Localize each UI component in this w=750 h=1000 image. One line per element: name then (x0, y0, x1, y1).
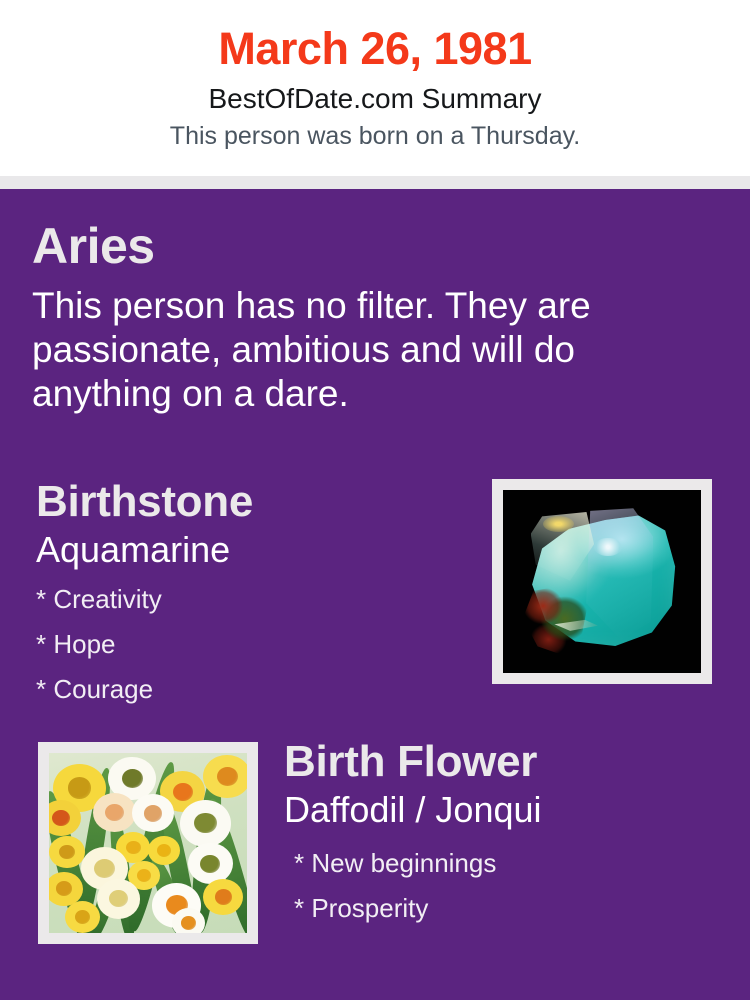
page-title-date: March 26, 1981 (0, 0, 750, 74)
daffodil-corona-icon (105, 804, 124, 821)
daffodil-corona-icon (200, 855, 220, 873)
daffodil-corona-icon (52, 810, 69, 826)
daffodil-corona-icon (56, 881, 73, 896)
summary-card: March 26, 1981 BestOfDate.com Summary Th… (0, 0, 750, 1000)
list-item: * Creativity (36, 577, 476, 622)
list-item: * Hope (36, 622, 476, 667)
daffodil-icon (180, 800, 231, 847)
zodiac-sign-name: Aries (32, 218, 672, 274)
daffodil-icon (97, 879, 141, 919)
header: March 26, 1981 BestOfDate.com Summary Th… (0, 0, 750, 176)
birthstone-heading: Birthstone (36, 477, 476, 527)
daffodil-corona-icon (194, 813, 217, 834)
daffodil-icon (203, 879, 243, 915)
birthstone-section: Birthstone Aquamarine * Creativity * Hop… (36, 477, 476, 712)
daffodil-icon (203, 755, 247, 798)
birthstone-trait-list: * Creativity * Hope * Courage (36, 571, 476, 712)
daffodil-icon (49, 836, 85, 868)
birth-flower-image-frame (38, 742, 258, 944)
daffodil-icon (49, 800, 81, 836)
daffodil-icon (172, 908, 206, 933)
list-item: * New beginnings (284, 841, 734, 886)
daffodil-corona-icon (181, 916, 196, 929)
daffodil-icon (132, 794, 174, 832)
birthstone-image-frame (492, 479, 712, 684)
header-divider (0, 176, 750, 189)
zodiac-section: Aries This person has no filter. They ar… (32, 218, 672, 416)
site-subtitle: BestOfDate.com Summary (0, 74, 750, 115)
crystal-inclusion-icon (543, 516, 575, 532)
daffodil-icon (148, 836, 180, 865)
list-item: * Prosperity (284, 886, 734, 931)
birth-flower-image (49, 753, 247, 933)
daffodil-corona-icon (122, 769, 143, 788)
weekday-statement: This person was born on a Thursday. (0, 115, 750, 151)
photo-backdrop (49, 753, 247, 933)
daffodil-corona-icon (126, 841, 141, 854)
zodiac-description: This person has no filter. They are pass… (32, 274, 647, 416)
daffodil-corona-icon (157, 844, 171, 857)
daffodil-corona-icon (59, 845, 75, 859)
daffodil-icon (93, 793, 137, 833)
birthstone-name: Aquamarine (36, 527, 476, 571)
daffodil-corona-icon (94, 859, 115, 878)
daffodil-corona-icon (144, 805, 162, 822)
birth-flower-section: Birth Flower Daffodil / Jonqui * New beg… (284, 737, 734, 931)
crystal-highlight-icon (594, 538, 622, 556)
list-item: * Courage (36, 667, 476, 712)
daffodil-corona-icon (173, 783, 193, 801)
daffodil-corona-icon (137, 869, 151, 882)
daffodil-corona-icon (75, 910, 91, 924)
daffodil-corona-icon (215, 889, 232, 905)
birth-flower-trait-list: * New beginnings * Prosperity (284, 831, 734, 931)
daffodil-corona-icon (217, 767, 238, 786)
birth-flower-heading: Birth Flower (284, 737, 734, 787)
daffodil-corona-icon (68, 777, 92, 798)
birthstone-image (503, 490, 701, 673)
daffodil-corona-icon (109, 890, 128, 907)
birth-flower-name: Daffodil / Jonqui (284, 787, 734, 831)
